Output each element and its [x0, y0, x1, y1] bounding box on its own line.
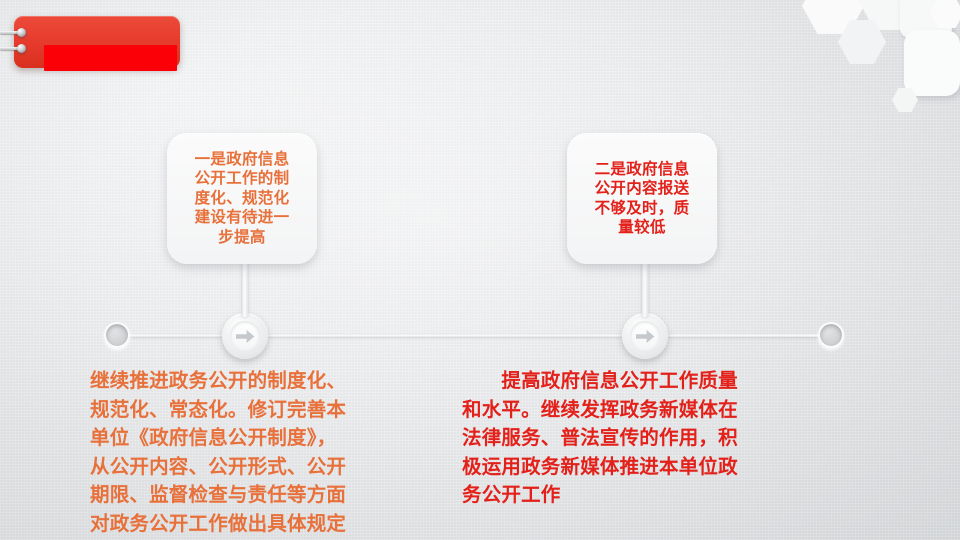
body-text-1: 继续推进政务公开的制度化、 规范化、常态化。修订完善本 单位《政府信息公开制度》…: [90, 367, 442, 538]
callout-text-1: 一是政府信息 公开工作的制 度化、规范化 建设有待进一 步提高: [195, 150, 290, 248]
timeline-node-1[interactable]: [222, 313, 268, 359]
timeline-dot-icon: [104, 322, 130, 348]
binder-ring-icon: [0, 44, 26, 53]
callout-bubble-1[interactable]: 一是政府信息 公开工作的制 度化、规范化 建设有待进一 步提高: [167, 133, 317, 264]
slide-title-tag: [14, 16, 180, 68]
callout-stem-2: [642, 255, 648, 317]
hexagon-pattern-icon: [780, 0, 960, 150]
timeline-node-2[interactable]: [622, 313, 668, 359]
callout-text-2: 二是政府信息 公开内容报送 不够及时，质 量较低: [595, 160, 690, 238]
title-redaction-bar: [44, 45, 177, 71]
binder-ring-icon: [0, 28, 26, 37]
slide-canvas: 一是政府信息 公开工作的制 度化、规范化 建设有待进一 步提高 二是政府信息 公…: [0, 0, 960, 540]
arrow-right-icon: [230, 321, 260, 351]
body-text-2: 提高政府信息公开工作质量 和水平。继续发挥政务新媒体在 法律服务、普法宣传的作用…: [462, 367, 822, 510]
timeline-dot-icon: [818, 322, 844, 348]
callout-bubble-2[interactable]: 二是政府信息 公开内容报送 不够及时，质 量较低: [567, 133, 717, 264]
arrow-right-icon: [630, 321, 660, 351]
callout-stem-1: [242, 255, 248, 317]
